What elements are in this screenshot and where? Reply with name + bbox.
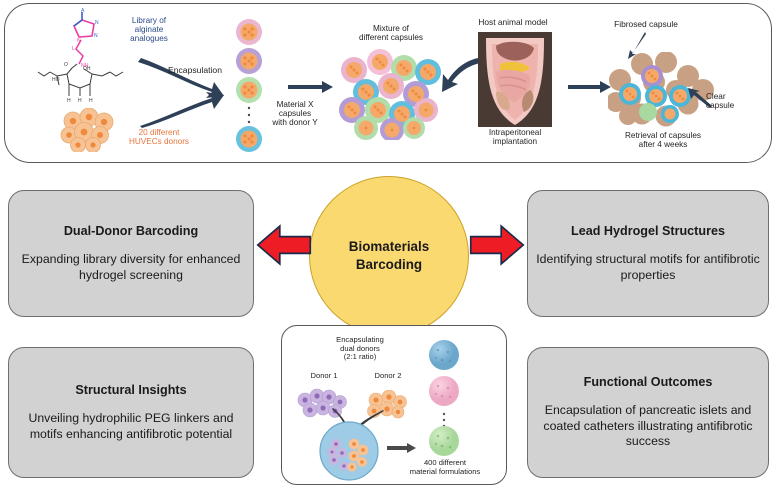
box-description: Unveiling hydrophilic PEG linkers and mo… <box>16 411 245 442</box>
formulation-count-label: 400 different material formulations <box>390 459 500 476</box>
svg-text:O: O <box>64 62 68 68</box>
box-description: Identifying structural motifs for antifi… <box>535 252 761 283</box>
huvec-donors-label: 20 different HUVECs donors <box>118 128 200 146</box>
svg-text:H: H <box>89 98 93 104</box>
donor1-label: Donor 1 <box>298 372 350 381</box>
svg-text:OH: OH <box>83 66 91 72</box>
svg-text:HO: HO <box>52 77 60 83</box>
arrow-left-to-dual-donor-icon <box>256 224 312 266</box>
box-title: Lead Hydrogel Structures <box>571 224 725 238</box>
material-formulation-spheres-icon <box>422 338 466 456</box>
host-animal-model-illustration <box>470 32 560 127</box>
box-dual-donor-barcoding[interactable]: Dual-Donor Barcoding Expanding library d… <box>8 190 254 317</box>
host-animal-label: Host animal model <box>458 18 568 27</box>
svg-text:A: A <box>81 8 85 14</box>
arrow-to-retrieval-icon <box>568 80 612 94</box>
arrow-to-mixture-icon <box>288 80 334 94</box>
dual-donor-hydrogel-bead-icon <box>318 420 380 482</box>
svg-text:L: L <box>72 46 75 52</box>
biomaterials-barcoding-circle[interactable]: Biomaterials Barcoding <box>309 176 469 336</box>
svg-text:H: H <box>67 98 71 104</box>
box-title: Dual-Donor Barcoding <box>64 224 198 238</box>
box-description: Encapsulation of pancreatic islets and c… <box>535 403 761 450</box>
fibrosed-capsule-label: Fibrosed capsule <box>594 20 698 29</box>
arrow-right-to-lead-hydrogel-icon <box>469 224 525 266</box>
mixture-label: Mixture of different capsules <box>343 24 439 42</box>
implantation-label: Intraperitoneal implantation <box>460 128 570 146</box>
box-title: Structural Insights <box>75 383 186 397</box>
box-description: Expanding library diversity for enhanced… <box>16 252 245 283</box>
clear-capsule-label: Clear capsule <box>706 92 764 110</box>
mixture-capsule-cluster-icon <box>336 48 448 140</box>
material-capsule-label: Material X capsules with donor Y <box>258 100 332 128</box>
svg-text:N: N <box>95 20 99 26</box>
encapsulation-label: Encapsulation <box>160 66 230 76</box>
box-structural-insights[interactable]: Structural Insights Unveiling hydrophili… <box>8 347 254 478</box>
arrow-to-formulations-icon <box>387 442 417 454</box>
retrieval-label: Retrieval of capsules after 4 weeks <box>604 131 722 149</box>
box-lead-hydrogel-structures[interactable]: Lead Hydrogel Structures Identifying str… <box>527 190 769 317</box>
circle-title: Biomaterials Barcoding <box>349 238 429 273</box>
box-title: Functional Outcomes <box>584 375 713 389</box>
library-label: Library of alginate analogues <box>114 16 184 44</box>
svg-text:N: N <box>94 33 98 39</box>
material-capsule-column-icon <box>232 18 266 152</box>
box-functional-outcomes[interactable]: Functional Outcomes Encapsulation of pan… <box>527 347 769 478</box>
encapsulating-heading: Encapsulating dual donors (2:1 ratio) <box>310 336 410 362</box>
huvec-donor-cluster-icon <box>60 108 120 152</box>
svg-text:H: H <box>78 98 82 104</box>
donor2-label: Donor 2 <box>362 372 414 381</box>
